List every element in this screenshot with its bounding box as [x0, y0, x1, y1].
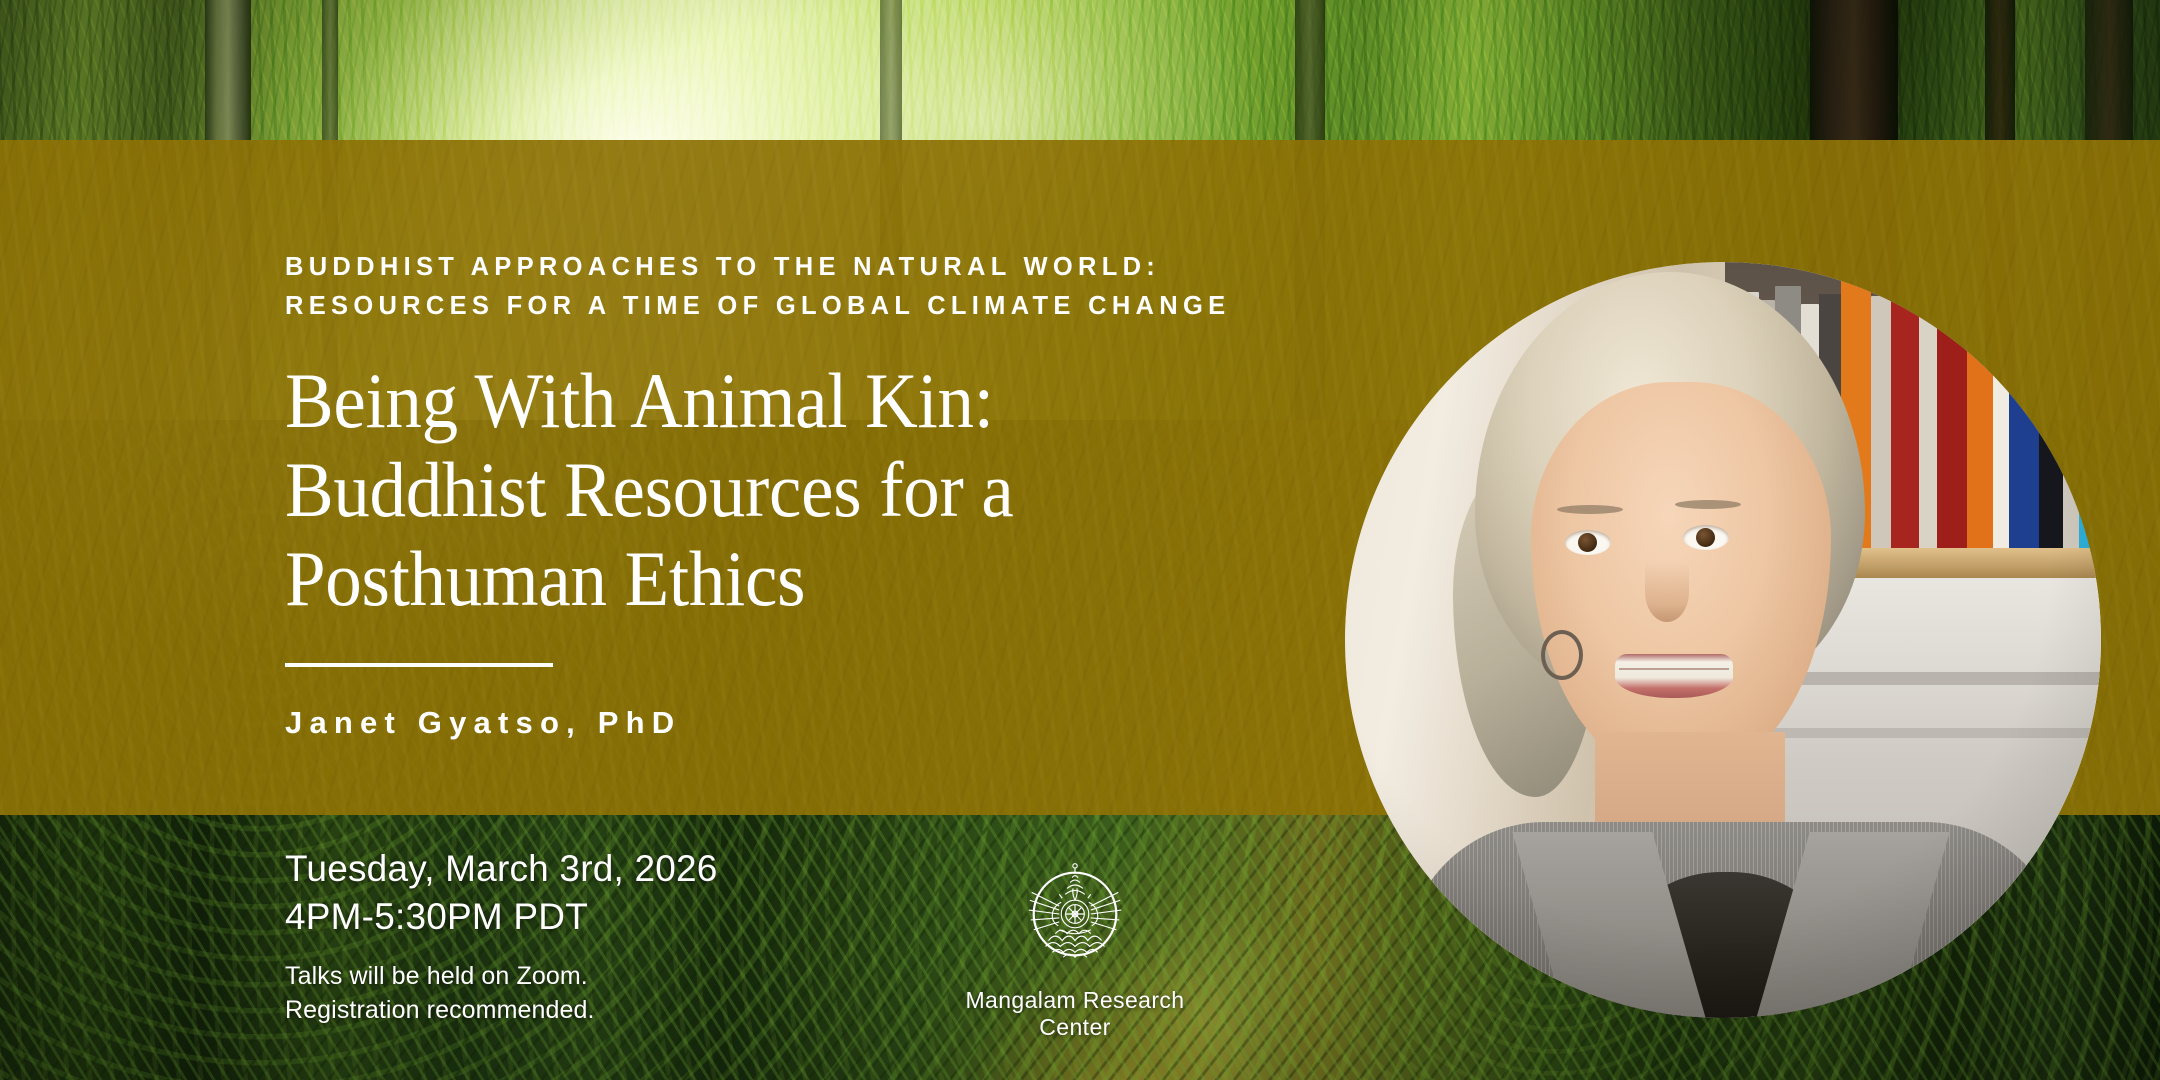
- portrait-shading: [1345, 262, 2101, 1018]
- event-datetime: Tuesday, March 3rd, 2026 4PM-5:30PM PDT: [285, 845, 905, 941]
- headline-content: BUDDHIST APPROACHES TO THE NATURAL WORLD…: [285, 140, 1325, 741]
- speaker-portrait: [1345, 262, 2101, 1018]
- title-divider: [285, 663, 553, 667]
- talk-title: Being With Animal Kin: Buddhist Resource…: [285, 356, 1257, 624]
- organization-logo: Mangalam Research Center: [950, 855, 1200, 1041]
- speaker-name: Janet Gyatso, PhD: [285, 705, 1325, 741]
- series-title: BUDDHIST APPROACHES TO THE NATURAL WORLD…: [285, 248, 1325, 326]
- book-spine: [2079, 282, 2101, 562]
- event-banner: BUDDHIST APPROACHES TO THE NATURAL WORLD…: [0, 0, 2160, 1080]
- event-details: Tuesday, March 3rd, 2026 4PM-5:30PM PDT …: [285, 845, 905, 1027]
- organization-name: Mangalam Research Center: [950, 987, 1200, 1041]
- mandala-dharma-wheel-icon: [1016, 855, 1134, 973]
- event-note: Talks will be held on Zoom. Registration…: [285, 959, 905, 1027]
